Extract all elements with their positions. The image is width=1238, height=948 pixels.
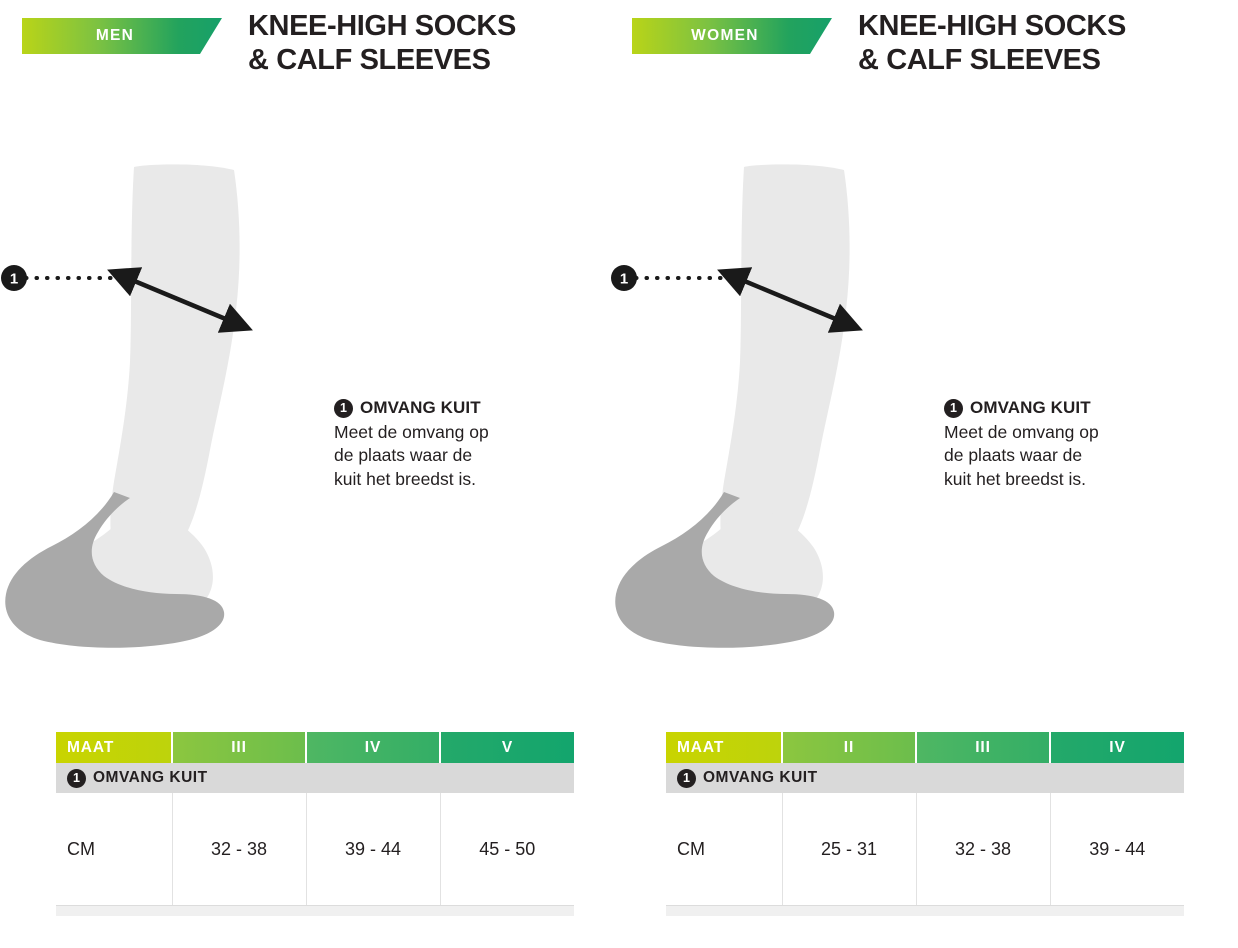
size-table-men: MAAT III IV V 1 OMVANG KUIT CM 32 - 38 3…	[56, 732, 574, 916]
table-header-row: MAAT II III IV	[666, 732, 1184, 763]
page-title: KNEE-HIGH SOCKS & CALF SLEEVES	[858, 9, 1238, 77]
page-title: KNEE-HIGH SOCKS & CALF SLEEVES	[248, 9, 628, 77]
band-label: OMVANG KUIT	[703, 769, 818, 787]
cell-value-2: 32 - 38	[916, 793, 1050, 906]
column-header-2: III	[916, 732, 1050, 763]
column-header-2: IV	[306, 732, 440, 763]
band-label: OMVANG KUIT	[93, 769, 208, 787]
band-badge: 1	[677, 769, 696, 788]
band-badge: 1	[67, 769, 86, 788]
table-tail-row	[666, 906, 1184, 917]
column-header-size: MAAT	[56, 732, 172, 763]
measurement-band-cell: 1 OMVANG KUIT	[56, 763, 574, 793]
callout-men: 1 OMVANG KUIT Meet de omvang op de plaat…	[334, 398, 549, 491]
table-tail-cell	[666, 906, 1184, 917]
callout-heading: 1 OMVANG KUIT	[334, 398, 549, 418]
cell-value-3: 45 - 50	[440, 793, 574, 906]
callout-title: OMVANG KUIT	[970, 398, 1091, 418]
callout-badge: 1	[944, 399, 963, 418]
measurement-band-row: 1 OMVANG KUIT	[666, 763, 1184, 793]
gender-label: WOMEN	[691, 27, 773, 45]
size-table-women: MAAT II III IV 1 OMVANG KUIT CM 25 - 31 …	[666, 732, 1184, 916]
table-tail-row	[56, 906, 574, 917]
table-row: CM 25 - 31 32 - 38 39 - 44	[666, 793, 1184, 906]
callout-description: Meet de omvang op de plaats waar de kuit…	[334, 421, 549, 491]
cell-value-3: 39 - 44	[1050, 793, 1184, 906]
cell-value-1: 25 - 31	[782, 793, 916, 906]
table-tail-cell	[56, 906, 574, 917]
column-header-3: V	[440, 732, 574, 763]
callout-description: Meet de omvang op de plaats waar de kuit…	[944, 421, 1159, 491]
gender-banner-women: WOMEN	[632, 18, 832, 54]
panel-men: MEN KNEE-HIGH SOCKS & CALF SLEEVES	[0, 0, 619, 948]
callout-title: OMVANG KUIT	[360, 398, 481, 418]
callout-marker-number: 1	[620, 271, 628, 288]
table-row: CM 32 - 38 39 - 44 45 - 50	[56, 793, 574, 906]
column-header-1: II	[782, 732, 916, 763]
panel-women: WOMEN KNEE-HIGH SOCKS & CALF SLEEVES 1	[610, 0, 1229, 948]
column-header-size: MAAT	[666, 732, 782, 763]
row-unit: CM	[666, 793, 782, 906]
column-header-1: III	[172, 732, 306, 763]
column-header-3: IV	[1050, 732, 1184, 763]
measurement-band-cell: 1 OMVANG KUIT	[666, 763, 1184, 793]
table-header-row: MAAT III IV V	[56, 732, 574, 763]
callout-badge: 1	[334, 399, 353, 418]
gender-label: MEN	[96, 27, 148, 45]
measurement-band-row: 1 OMVANG KUIT	[56, 763, 574, 793]
cell-value-2: 39 - 44	[306, 793, 440, 906]
callout-heading: 1 OMVANG KUIT	[944, 398, 1159, 418]
gender-banner-men: MEN	[22, 18, 222, 54]
row-unit: CM	[56, 793, 172, 906]
callout-women: 1 OMVANG KUIT Meet de omvang op de plaat…	[944, 398, 1159, 491]
cell-value-1: 32 - 38	[172, 793, 306, 906]
callout-marker-number: 1	[10, 271, 18, 288]
